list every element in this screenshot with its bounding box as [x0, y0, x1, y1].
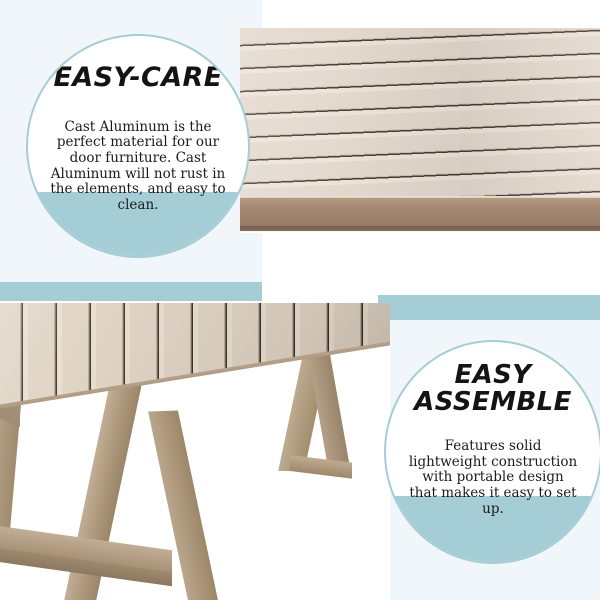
photo-table-top-closeup	[240, 28, 600, 233]
feature-title-line-2: ASSEMBLE	[398, 389, 588, 416]
bottom-right-accent-band	[378, 295, 600, 320]
feature-title-easy-assemble: EASY ASSEMBLE	[398, 362, 588, 415]
feature-body-easy-care: Cast Aluminum is the perfect material fo…	[42, 120, 234, 214]
product-feature-collage: EASY-CARE Cast Aluminum is the perfect m…	[0, 0, 600, 600]
photo-table-full-angle	[0, 303, 390, 600]
feature-body-easy-assemble: Features solid lightweight construction …	[398, 439, 588, 517]
feature-title-line-1: EASY	[398, 362, 588, 389]
badge-content: EASY-CARE Cast Aluminum is the perfect m…	[28, 36, 248, 213]
tabletop-drop-shadow	[240, 226, 600, 232]
slat-surface	[240, 28, 600, 200]
surface-sheen	[240, 28, 600, 200]
top-left-accent-band	[0, 282, 262, 301]
feature-title-easy-care: EASY-CARE	[42, 64, 234, 92]
feature-badge-easy-assemble: EASY ASSEMBLE Features solid lightweight…	[384, 340, 600, 564]
feature-badge-easy-care: EASY-CARE Cast Aluminum is the perfect m…	[26, 34, 250, 258]
badge-content: EASY ASSEMBLE Features solid lightweight…	[386, 342, 600, 517]
